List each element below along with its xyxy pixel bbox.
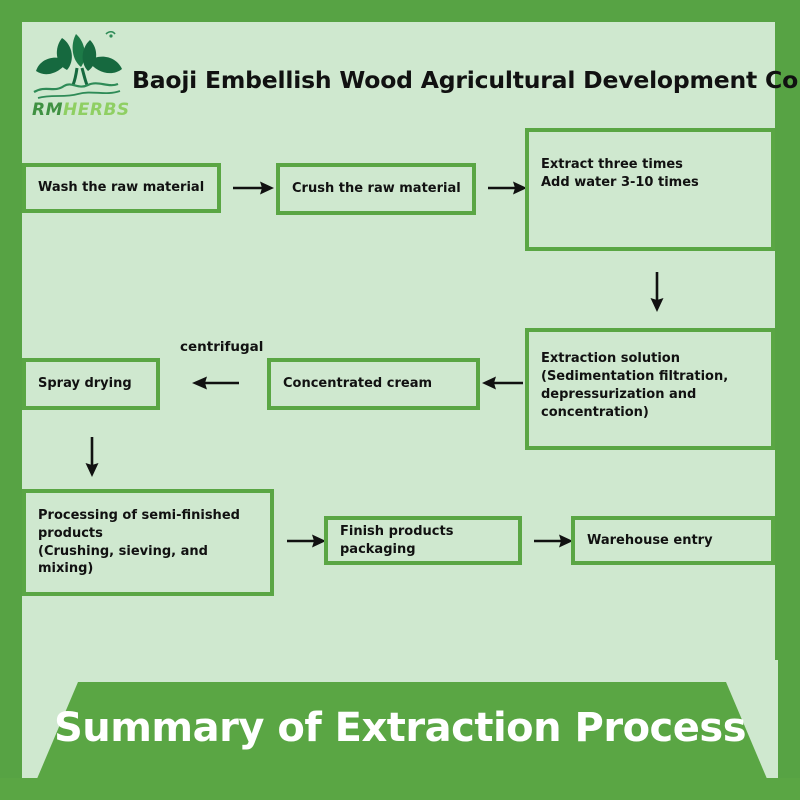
arrow-semi-to-packaging <box>286 530 326 552</box>
arrow-crush-to-extract <box>487 177 527 199</box>
flow-node-warehouse[interactable]: Warehouse entry <box>571 516 775 565</box>
flow-node-packaging[interactable]: Finish products packaging <box>324 516 522 565</box>
arrow-spray-to-semi <box>80 437 104 477</box>
infographic-root: RMHERBS Baoji Embellish Wood Agricultura… <box>0 0 800 800</box>
flow-node-cream-label: Concentrated cream <box>271 375 440 393</box>
flow-node-semi[interactable]: Processing of semi-finished products (Cr… <box>22 489 274 596</box>
flow-node-cream[interactable]: Concentrated cream <box>267 358 480 410</box>
arrow-wash-to-crush <box>232 177 274 199</box>
arrow-extract-to-solution <box>645 272 669 312</box>
ground-lines <box>34 83 120 98</box>
flow-node-solution-label: Extraction solution (Sedimentation filtr… <box>529 332 736 422</box>
flow-node-wash-label: Wash the raw material <box>26 179 212 197</box>
flow-node-extract[interactable]: Extract three times Add water 3-10 times <box>525 128 775 251</box>
brand-text-rm: RM <box>32 100 63 120</box>
flow-node-crush-label: Crush the raw material <box>280 180 469 198</box>
flow-node-spray-label: Spray drying <box>26 375 140 393</box>
arrow-cream-to-spray <box>192 372 240 394</box>
banner-title: Summary of Extraction Process <box>0 705 800 751</box>
arrow-solution-to-cream <box>482 372 524 394</box>
leaf-cluster <box>36 34 122 85</box>
flow-node-solution[interactable]: Extraction solution (Sedimentation filtr… <box>525 328 775 450</box>
flow-node-crush[interactable]: Crush the raw material <box>276 163 476 215</box>
seedling-logo: RMHERBS <box>30 28 134 120</box>
header: RMHERBS Baoji Embellish Wood Agricultura… <box>22 22 775 122</box>
flow-node-extract-label: Extract three times Add water 3-10 times <box>529 132 707 192</box>
flow-node-spray[interactable]: Spray drying <box>22 358 160 410</box>
edge-label-centrifugal: centrifugal <box>180 339 263 355</box>
arrow-packaging-to-warehouse <box>533 530 573 552</box>
brand-text-herbs: HERBS <box>63 100 130 120</box>
page-title: Baoji Embellish Wood Agricultural Develo… <box>132 66 800 94</box>
flow-node-packaging-label: Finish products packaging <box>328 523 518 559</box>
flow-node-warehouse-label: Warehouse entry <box>575 532 721 550</box>
small-sprout-accent <box>106 32 115 38</box>
flow-node-semi-label: Processing of semi-finished products (Cr… <box>26 507 270 579</box>
flow-node-wash[interactable]: Wash the raw material <box>22 163 221 213</box>
